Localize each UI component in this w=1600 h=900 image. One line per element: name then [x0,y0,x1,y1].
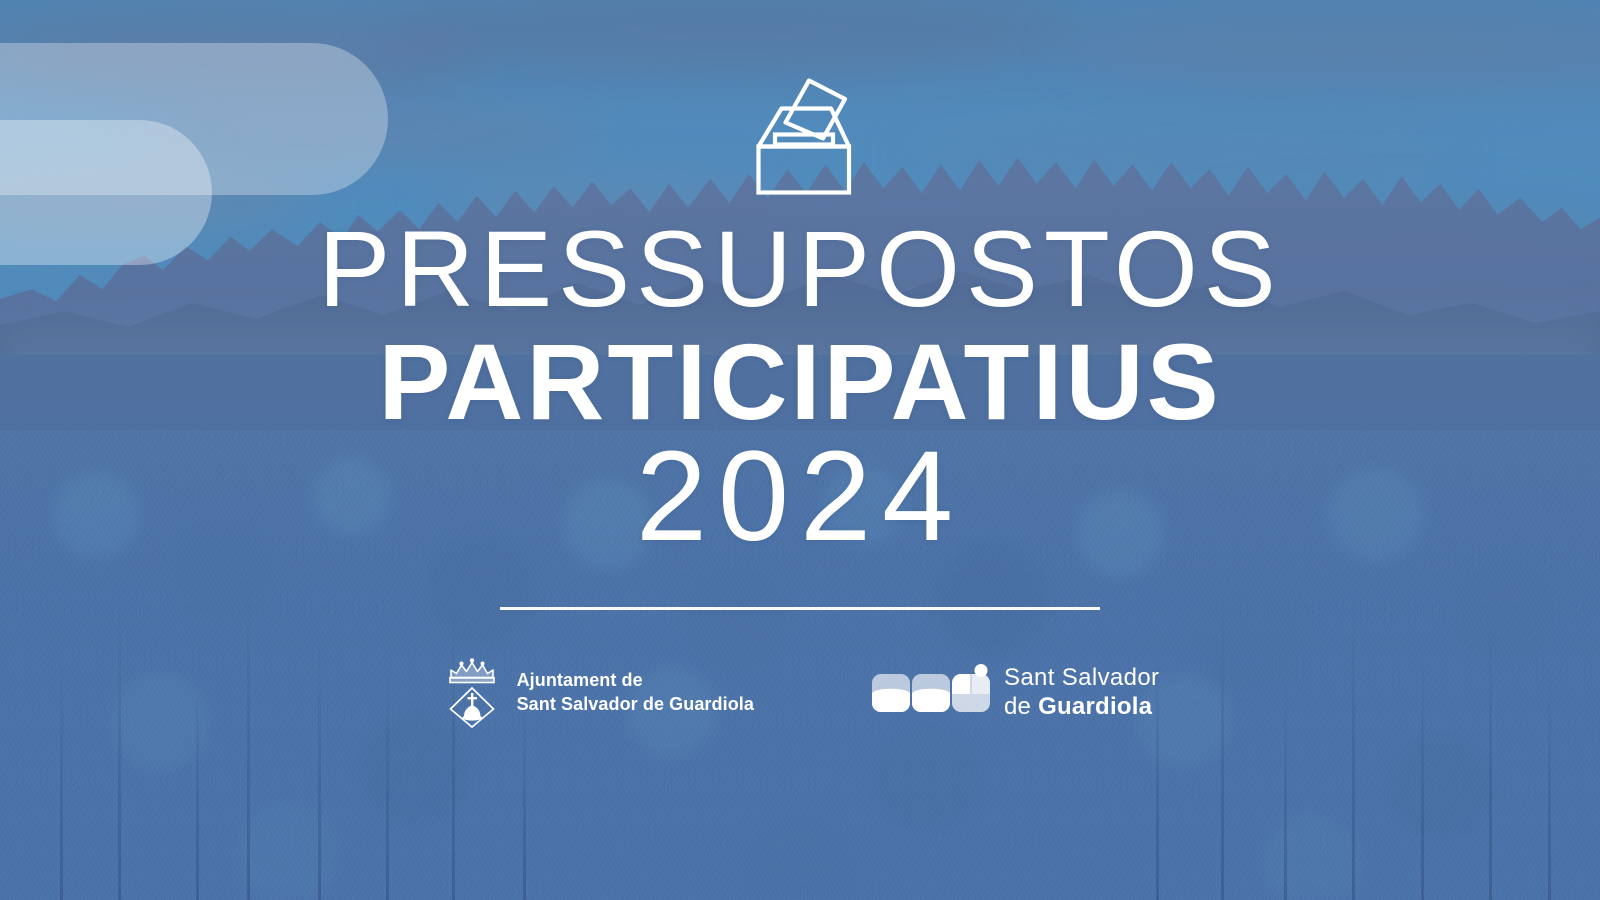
poster-content: PRESSUPOSTOS PARTICIPATIUS 2024 [0,0,1600,900]
divider-rule [500,607,1100,610]
ajuntament-logo: Ajuntament de Sant Salvador de Guardiola [441,652,754,733]
ssg-monogram-icon [872,664,990,721]
ssg-line-2-strong: Guardiola [1038,693,1152,720]
coat-of-arms-icon [441,652,503,733]
ajuntament-line-2: Sant Salvador de Guardiola [517,693,754,717]
poster: PRESSUPOSTOS PARTICIPATIUS 2024 [0,0,1600,900]
ssg-line-2-prefix: de [1004,693,1038,720]
headline-line-1: PRESSUPOSTOS [0,215,1600,323]
ssg-line-1: Sant Salvador [1004,664,1159,693]
ssg-logo-text: Sant Salvador de Guardiola [1004,664,1159,722]
headline-block: PRESSUPOSTOS PARTICIPATIUS 2024 [0,215,1600,561]
ssg-logo: Sant Salvador de Guardiola [872,664,1159,722]
ballot-box-icon [745,68,855,201]
ajuntament-logo-text: Ajuntament de Sant Salvador de Guardiola [517,669,754,717]
ssg-line-2: de Guardiola [1004,693,1159,722]
logo-row: Ajuntament de Sant Salvador de Guardiola [441,652,1160,733]
ajuntament-line-1: Ajuntament de [517,669,754,693]
headline-line-2: PARTICIPATIUS [0,327,1600,437]
headline-year: 2024 [0,433,1600,561]
